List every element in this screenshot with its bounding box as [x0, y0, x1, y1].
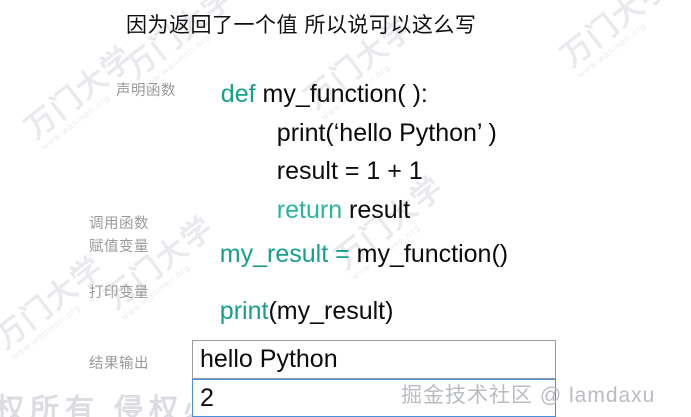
- brand-watermark-text: 万门大学: [0, 250, 111, 355]
- brand-watermark: 万门大学 www.wanmen.org: [556, 0, 682, 80]
- output-box-hello-python[interactable]: hello Python: [192, 340, 556, 379]
- label-print-variable: 打印变量: [89, 281, 149, 302]
- brand-watermark-text: 万门大学: [555, 0, 676, 73]
- output-value-result: 2: [193, 386, 214, 411]
- brand-watermark: 万门大学 www.wanmen.org: [0, 251, 116, 362]
- label-result-output: 结果输出: [89, 352, 149, 373]
- output-value-hello-python: hello Python: [193, 347, 338, 372]
- code-print-argument: (my_result): [268, 297, 393, 325]
- label-print-variable-line1: 打印变量: [89, 285, 149, 301]
- output-box-result-value[interactable]: 2: [192, 379, 556, 417]
- slide-canvas: 万门大学 www.wanmen.org 万门大学 www.wanmen.org …: [0, 0, 691, 417]
- label-result-output-line1: 结果输出: [89, 356, 149, 372]
- label-call-function-assign: 调用函数 赋值变量: [89, 212, 149, 256]
- brand-watermark-sub: www.wanmen.org: [575, 0, 682, 80]
- code-keyword-print: print: [220, 297, 269, 325]
- label-call-function-line1: 调用函数: [89, 216, 149, 232]
- label-call-function-line2: 赋值变量: [89, 235, 149, 256]
- code-line-print-result: print(my_result): [192, 274, 393, 349]
- slide-title: 因为返回了一个值 所以说可以这么写: [126, 9, 476, 39]
- label-declare-function: 声明函数: [116, 79, 176, 100]
- label-declare-function-line1: 声明函数: [116, 83, 176, 99]
- code-call-my-function: my_function(): [350, 240, 508, 268]
- code-variable-my-result: my_result =: [220, 240, 350, 268]
